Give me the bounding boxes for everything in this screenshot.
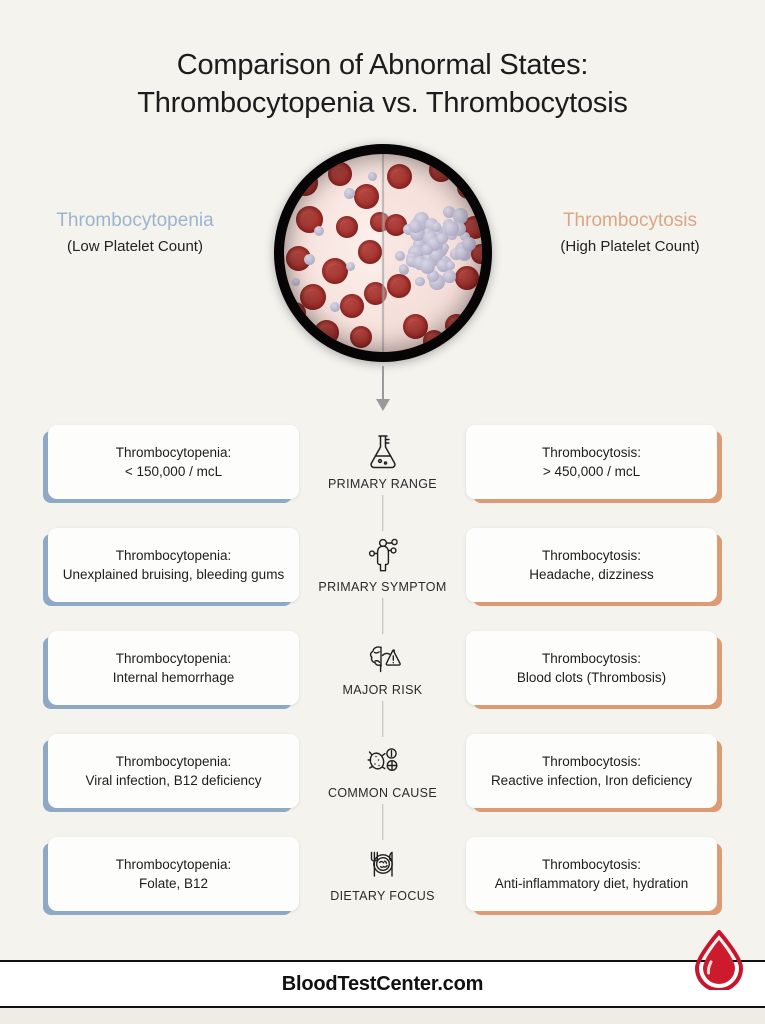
- blood-drop-logo: [691, 930, 747, 990]
- left-card-value: Internal hemorrhage: [113, 670, 235, 685]
- right-card-label: Thrombocytosis:: [491, 752, 692, 771]
- left-card-value: Folate, B12: [139, 876, 208, 891]
- brain-warning-icon: [363, 638, 403, 678]
- left-card[interactable]: Thrombocytopenia: Viral infection, B12 d…: [48, 734, 299, 808]
- left-condition-sub: (Low Platelet Count): [10, 236, 260, 258]
- left-card-text: Thrombocytopenia: Viral infection, B12 d…: [85, 752, 261, 790]
- comparison-row: Thrombocytopenia: < 150,000 / mcL PRIMAR…: [0, 410, 765, 513]
- category-column: COMMON CAUSE: [308, 737, 458, 804]
- right-condition-sub: (High Platelet Count): [505, 236, 755, 258]
- left-card-label: Thrombocytopenia:: [85, 752, 261, 771]
- right-card-text: Thrombocytosis: Blood clots (Thrombosis): [517, 649, 666, 687]
- infographic-page: Comparison of Abnormal States: Thrombocy…: [0, 0, 765, 1024]
- right-card-text: Thrombocytosis: Headache, dizziness: [529, 546, 654, 584]
- left-card-label: Thrombocytopenia:: [116, 443, 232, 462]
- right-card[interactable]: Thrombocytosis: Headache, dizziness: [466, 528, 717, 602]
- left-card-label: Thrombocytopenia:: [113, 649, 235, 668]
- comparison-row: Thrombocytopenia: Internal hemorrhage MA…: [0, 616, 765, 719]
- body-symptom-icon: [363, 535, 403, 575]
- right-condition-name: Thrombocytosis: [505, 208, 755, 234]
- left-card[interactable]: Thrombocytopenia: Unexplained bruising, …: [48, 528, 299, 602]
- right-card-value: > 450,000 / mcL: [543, 464, 640, 479]
- left-condition-name: Thrombocytopenia: [10, 208, 260, 234]
- left-card-value: Viral infection, B12 deficiency: [85, 773, 261, 788]
- left-card[interactable]: Thrombocytopenia: Internal hemorrhage: [48, 631, 299, 705]
- plate-cutlery-icon: [363, 844, 403, 884]
- right-card[interactable]: Thrombocytosis: Anti-inflammatory diet, …: [466, 837, 717, 911]
- right-card-text: Thrombocytosis: Anti-inflammatory diet, …: [495, 855, 689, 893]
- page-title: Comparison of Abnormal States: Thrombocy…: [0, 0, 765, 122]
- left-card-text: Thrombocytopenia: Internal hemorrhage: [113, 649, 235, 687]
- right-card[interactable]: Thrombocytosis: > 450,000 / mcL: [466, 425, 717, 499]
- left-card-text: Thrombocytopenia: Unexplained bruising, …: [63, 546, 284, 584]
- right-card-text: Thrombocytosis: Reactive infection, Iron…: [491, 752, 692, 790]
- title-line-2: Thrombocytopenia vs. Thrombocytosis: [0, 84, 765, 122]
- right-card-value: Reactive infection, Iron deficiency: [491, 773, 692, 788]
- comparison-row: Thrombocytopenia: Folate, B12 DIETARY FO…: [0, 822, 765, 925]
- category-column: PRIMARY SYMPTOM: [308, 531, 458, 598]
- title-line-1: Comparison of Abnormal States:: [0, 46, 765, 84]
- footer-bar: BloodTestCenter.com: [0, 960, 765, 1008]
- footer-website[interactable]: BloodTestCenter.com: [282, 973, 483, 996]
- right-card-label: Thrombocytosis:: [529, 546, 654, 565]
- right-card-value: Anti-inflammatory diet, hydration: [495, 876, 689, 891]
- left-card-value: Unexplained bruising, bleeding gums: [63, 567, 284, 582]
- category-label: DIETARY FOCUS: [330, 889, 435, 903]
- left-card-label: Thrombocytopenia:: [116, 855, 232, 874]
- right-card-label: Thrombocytosis:: [542, 443, 641, 462]
- left-card[interactable]: Thrombocytopenia: Folate, B12: [48, 837, 299, 911]
- left-card-text: Thrombocytopenia: Folate, B12: [116, 855, 232, 893]
- bottom-strip: [0, 1008, 765, 1024]
- comparison-rows: Thrombocytopenia: < 150,000 / mcL PRIMAR…: [0, 410, 765, 925]
- left-card-value: < 150,000 / mcL: [125, 464, 222, 479]
- comparison-row: Thrombocytopenia: Unexplained bruising, …: [0, 513, 765, 616]
- left-card-label: Thrombocytopenia:: [63, 546, 284, 565]
- down-arrow-icon: [382, 366, 384, 400]
- category-label: MAJOR RISK: [343, 683, 423, 697]
- right-card[interactable]: Thrombocytosis: Blood clots (Thrombosis): [466, 631, 717, 705]
- category-label: PRIMARY RANGE: [328, 477, 437, 491]
- category-column: DIETARY FOCUS: [308, 840, 458, 907]
- comparison-row: Thrombocytopenia: Viral infection, B12 d…: [0, 719, 765, 822]
- right-card-label: Thrombocytosis:: [495, 855, 689, 874]
- category-column: PRIMARY RANGE: [308, 428, 458, 495]
- right-card-label: Thrombocytosis:: [517, 649, 666, 668]
- right-card-value: Headache, dizziness: [529, 567, 654, 582]
- flask-icon: [363, 432, 403, 472]
- category-column: MAJOR RISK: [308, 634, 458, 701]
- left-card[interactable]: Thrombocytopenia: < 150,000 / mcL: [48, 425, 299, 499]
- left-card-text: Thrombocytopenia: < 150,000 / mcL: [116, 443, 232, 481]
- germ-virus-icon: [363, 741, 403, 781]
- left-side-label: Thrombocytopenia (Low Platelet Count): [10, 208, 260, 258]
- category-label: COMMON CAUSE: [328, 786, 437, 800]
- microscope-blood-smear-icon: [274, 144, 492, 362]
- right-card[interactable]: Thrombocytosis: Reactive infection, Iron…: [466, 734, 717, 808]
- right-side-label: Thrombocytosis (High Platelet Count): [505, 208, 755, 258]
- scope-vignette: [274, 144, 492, 362]
- hero-section: Thrombocytopenia (Low Platelet Count) Th…: [0, 138, 765, 388]
- right-card-value: Blood clots (Thrombosis): [517, 670, 666, 685]
- right-card-text: Thrombocytosis: > 450,000 / mcL: [542, 443, 641, 481]
- category-label: PRIMARY SYMPTOM: [318, 580, 446, 594]
